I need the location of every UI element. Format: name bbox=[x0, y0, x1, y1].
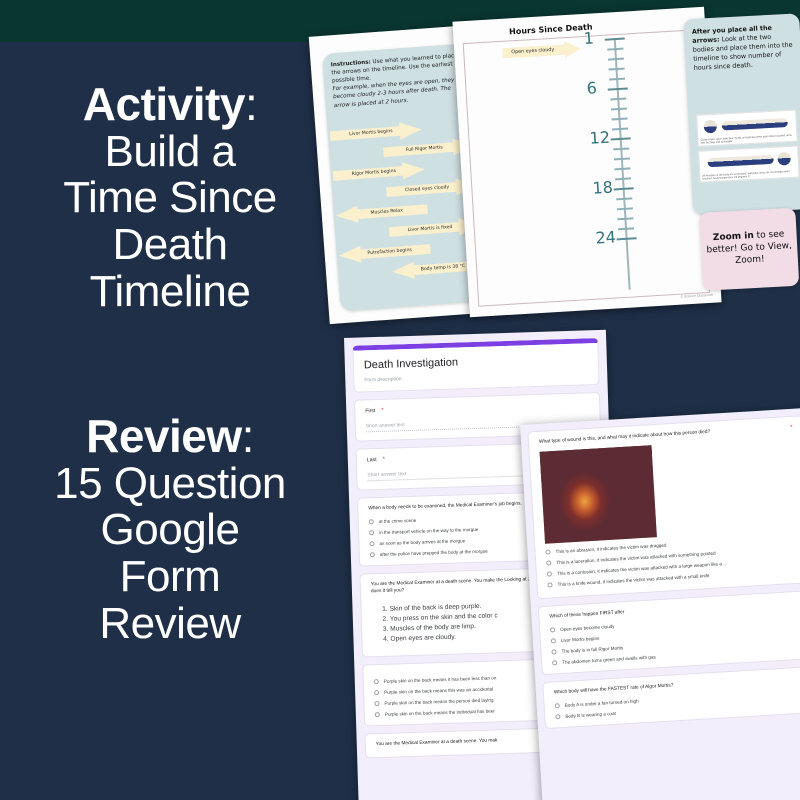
form-question-algor-mortis: Which body will have the FASTEST rate of… bbox=[542, 666, 800, 729]
promo-activity-line-3: Death bbox=[0, 222, 340, 269]
radio-icon[interactable] bbox=[545, 549, 550, 554]
question-text: Which of these happen FIRST after bbox=[549, 610, 624, 621]
first-name-input[interactable]: Short answer text bbox=[366, 418, 541, 432]
promo-activity-line-1: Build a bbox=[0, 129, 340, 176]
timeline-title: Hours Since Death bbox=[509, 22, 593, 36]
radio-icon[interactable] bbox=[374, 690, 379, 695]
promo-review-heading: Review: bbox=[0, 412, 340, 461]
option-label: This is an abrasion, it indicates the vi… bbox=[555, 542, 666, 554]
wound-photo bbox=[540, 445, 657, 543]
option-label: The body is in full Rigor Mortis bbox=[561, 645, 623, 654]
arrow-text: Muscles Relax bbox=[370, 208, 403, 215]
arrow-text: Closed eyes cloudy bbox=[405, 185, 450, 193]
radio-icon[interactable] bbox=[370, 552, 375, 557]
radio-icon[interactable] bbox=[555, 703, 560, 708]
radio-icon[interactable] bbox=[551, 638, 556, 643]
body-b-illustration: All muscles of the body are contracted, … bbox=[698, 146, 800, 183]
radio-icon[interactable] bbox=[369, 530, 374, 535]
callout-place-arrows: After you place all the arrows: Look at … bbox=[683, 13, 800, 215]
promo-review-eyebrow: Review bbox=[86, 410, 242, 462]
zoom-strong: Zoom in bbox=[713, 231, 754, 243]
timeline-frame bbox=[463, 29, 710, 306]
radio-icon[interactable] bbox=[375, 712, 380, 717]
field-label-row: First * bbox=[365, 401, 589, 414]
form-title: Death Investigation bbox=[364, 352, 588, 371]
option-label: The abdomen turns green and swells with … bbox=[562, 654, 656, 665]
arrow-text: Livor Mortis begins bbox=[349, 129, 393, 137]
option-label: Body B is wearing a coat bbox=[565, 711, 616, 719]
option-label: after the police have prepped the body a… bbox=[380, 549, 488, 557]
timeline-tick-12: 12 bbox=[589, 130, 610, 147]
body-b-caption: All muscles of the body are contracted, … bbox=[702, 169, 796, 180]
radio-icon[interactable] bbox=[555, 714, 560, 719]
promo-review-line-1: 15 Question bbox=[0, 461, 340, 508]
promo-activity: Activity: Build a Time Since Death Timel… bbox=[0, 80, 340, 315]
promo-review: Review: 15 Question Google Form Review bbox=[0, 412, 340, 647]
field-label: Last bbox=[367, 457, 377, 463]
callout-place-arrows-text: After you place all the arrows: Look at … bbox=[692, 23, 794, 74]
option-label: in the transport vehicle on the way to t… bbox=[379, 527, 478, 535]
promo-activity-line-4: Timeline bbox=[0, 269, 340, 316]
option-label: Purple skin on the back means the indivi… bbox=[385, 709, 495, 717]
option-label: Purple skin on the back means this was a… bbox=[384, 687, 493, 695]
arrow-text: Livor Mortis is fixed bbox=[408, 225, 453, 233]
option-label: at the crime scene bbox=[379, 518, 417, 524]
arrow-text: Open eyes cloudy bbox=[511, 48, 554, 56]
field-label: First bbox=[365, 408, 375, 414]
timeline-tick-18: 18 bbox=[592, 180, 613, 197]
arrow-text: Body temp is 38 °C bbox=[421, 264, 466, 272]
radio-icon[interactable] bbox=[374, 701, 379, 706]
timeline-tick-24: 24 bbox=[595, 229, 616, 246]
callout-zoom-in: Zoom in to see better! Go to View, Zoom! bbox=[699, 208, 799, 291]
option-label: as soon as the body arrives at the morgu… bbox=[379, 538, 465, 546]
promo-review-line-3: Form bbox=[0, 554, 340, 601]
promo-review-colon: : bbox=[242, 410, 254, 462]
timeline-tick-6: 6 bbox=[586, 80, 597, 97]
arrow-label-rigor-mortis-begins[interactable]: Rigor Mortis begins bbox=[332, 161, 425, 185]
form-header-card: Death Investigation Form description bbox=[352, 338, 599, 393]
radio-icon[interactable] bbox=[547, 582, 552, 587]
option-label: Purple skin on the back means it has bee… bbox=[384, 676, 497, 685]
google-form-preview: Death Investigation Form description Fir… bbox=[330, 330, 800, 800]
timeline-tick-1: 1 bbox=[583, 30, 594, 47]
worksheet-preview: Instructions: Use what you learned to pl… bbox=[315, 8, 800, 328]
radio-icon[interactable] bbox=[550, 627, 555, 632]
timeline-credit: © Science Classroom bbox=[680, 293, 713, 299]
option-label: Open eyes become cloudy bbox=[560, 624, 615, 632]
option-label: Body A is under a fan turned on high bbox=[565, 698, 639, 707]
radio-icon[interactable] bbox=[547, 571, 552, 576]
promo-activity-heading: Activity: bbox=[0, 80, 340, 129]
worksheet-callouts: After you place all the arrows: Look at … bbox=[683, 7, 800, 289]
promo-review-line-2: Google bbox=[0, 507, 340, 554]
arrow-text: Putrefaction begins bbox=[367, 248, 412, 256]
promo-review-line-4: Review bbox=[0, 601, 340, 648]
arrow-label-putrefaction-begins[interactable]: Putrefaction begins bbox=[338, 241, 431, 265]
question-text: What type of wound is this, and what may… bbox=[539, 430, 711, 447]
question-text: Which body will have the FASTEST rate of… bbox=[554, 683, 674, 697]
last-name-input[interactable]: Short answer text bbox=[367, 467, 542, 481]
option-label: Livor Mortis begins bbox=[561, 636, 600, 643]
radio-icon[interactable] bbox=[369, 541, 374, 546]
promo-activity-line-2: Time Since bbox=[0, 175, 340, 222]
arrow-text: Rigor Mortis begins bbox=[352, 169, 397, 177]
form-description: Form description bbox=[364, 370, 588, 383]
form-question-wound-type: What type of wound is this, and what may… bbox=[527, 415, 800, 599]
radio-icon[interactable] bbox=[369, 519, 374, 524]
body-a-illustration: Closed eyes, clear, pale livor mortis on… bbox=[696, 110, 798, 147]
worksheet-page-timeline: Hours Since Death 1 6 12 bbox=[452, 7, 721, 317]
arrow-label-muscles-relax[interactable]: Muscles Relax bbox=[335, 201, 428, 225]
radio-icon[interactable] bbox=[551, 649, 556, 654]
required-asterisk: * bbox=[790, 425, 793, 431]
radio-icon[interactable] bbox=[374, 679, 379, 684]
radio-icon[interactable] bbox=[546, 560, 551, 565]
form-question-happens-first: Which of these happen FIRST after * Open… bbox=[538, 590, 800, 675]
option-label: Purple skin on the back means the person… bbox=[384, 698, 493, 706]
arrow-label-livor-mortis-begins[interactable]: Livor Mortis begins bbox=[329, 121, 422, 145]
promo-activity-eyebrow: Activity bbox=[83, 78, 245, 130]
callout-zoom-in-text: Zoom in to see better! Go to View, Zoom! bbox=[704, 229, 794, 269]
required-asterisk: * bbox=[383, 457, 386, 463]
instructions-text: Instructions: Use what you learned to pl… bbox=[331, 52, 468, 110]
arrow-text: Full Rigor Mortis bbox=[406, 145, 443, 153]
body-a-caption: Closed eyes, clear, pale livor mortis on… bbox=[700, 133, 794, 144]
question-header-row: What type of wound is this, and what may… bbox=[539, 425, 793, 447]
promo-activity-colon: : bbox=[245, 78, 257, 130]
google-form-overlay: What type of wound is this, and what may… bbox=[520, 408, 800, 800]
option-label: This is a knife wound, it indicates the … bbox=[557, 573, 709, 587]
radio-icon[interactable] bbox=[552, 660, 557, 665]
required-asterisk: * bbox=[381, 408, 384, 414]
